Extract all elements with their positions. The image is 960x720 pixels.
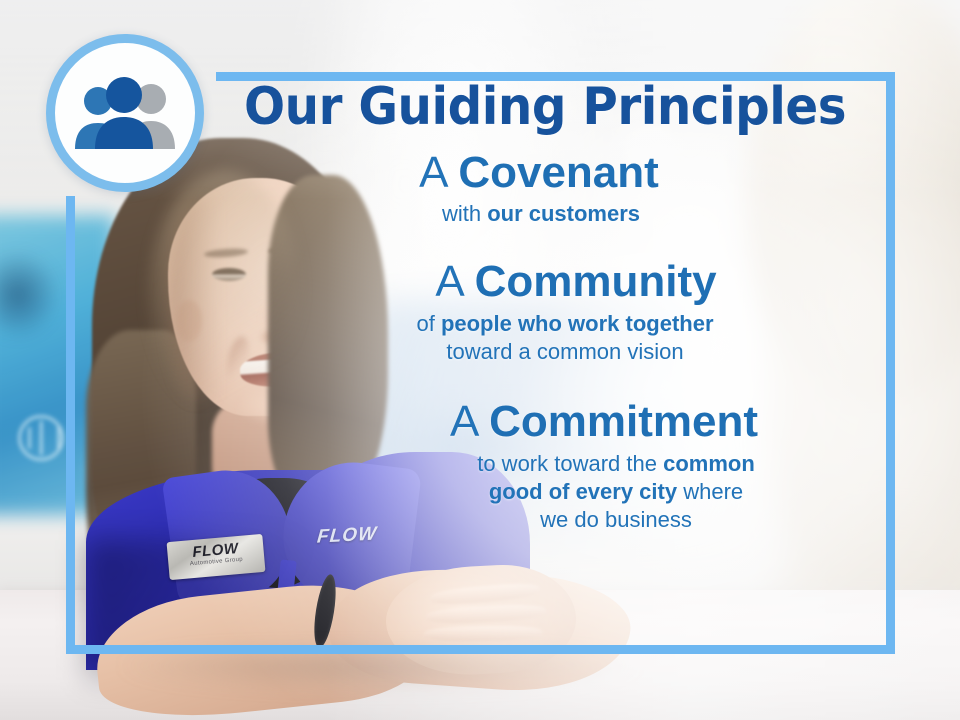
principle-subtext: of people who work together toward a com… — [240, 310, 890, 366]
principle-heading: A Community — [262, 258, 890, 306]
principle-keyword: Commitment — [489, 397, 758, 446]
text-content: Our Guiding Principles A Covenant with o… — [200, 80, 890, 534]
principle-keyword: Community — [475, 257, 717, 306]
principle-subtext: to work toward the common good of every … — [342, 450, 890, 534]
principle-community: A Community of people who work together … — [200, 258, 890, 366]
people-group-icon — [69, 77, 181, 149]
principle-heading: A Commitment — [318, 398, 890, 446]
subtext-line3: we do business — [540, 507, 692, 532]
subtext-emphasis: our customers — [487, 201, 640, 226]
principle-article: A — [450, 397, 477, 446]
principle-commitment: A Commitment to work toward the common g… — [200, 398, 890, 534]
principle-subtext: with our customers — [192, 200, 890, 228]
subtext-lead: to work toward the — [477, 451, 663, 476]
principle-covenant: A Covenant with our customers — [200, 149, 890, 229]
subtext-emphasis: common — [663, 451, 755, 476]
frame-border-left — [66, 196, 75, 654]
subtext-lead: of — [416, 311, 440, 336]
principle-heading: A Covenant — [188, 149, 890, 197]
page-title: Our Guiding Principles — [224, 80, 866, 135]
subtext-emphasis: people who work together — [441, 311, 714, 336]
guiding-principles-graphic: FLOW FLOW Automotive Group — [0, 0, 960, 720]
principle-keyword: Covenant — [458, 148, 658, 197]
frame-border-bottom — [66, 645, 895, 654]
principle-article: A — [435, 257, 462, 306]
subtext-lead: with — [442, 201, 487, 226]
subtext-emphasis-2: good of every city — [489, 479, 677, 504]
arm-shadow — [120, 650, 640, 690]
principle-article: A — [419, 148, 446, 197]
subtext-line2-tail: where — [677, 479, 743, 504]
people-badge-circle — [46, 34, 204, 192]
subtext-line2: toward a common vision — [446, 339, 683, 364]
